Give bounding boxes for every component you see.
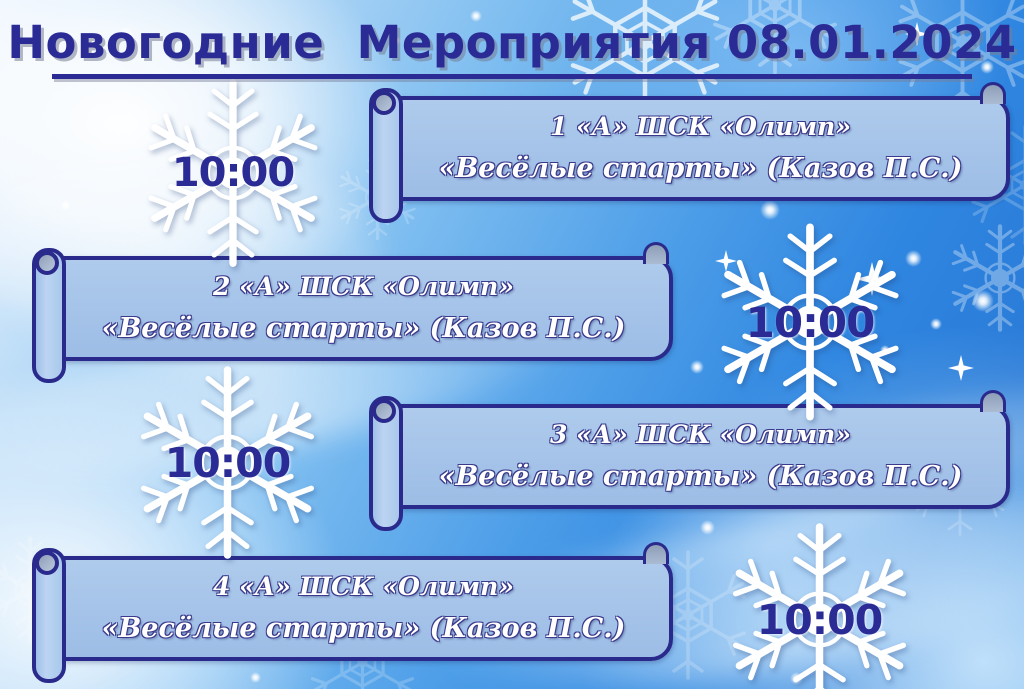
scroll-curl-right-icon: [980, 390, 1006, 412]
scroll-curl-right-icon: [980, 82, 1006, 104]
event-class-label: 4 «А» ШСК «Олимп»: [213, 573, 514, 601]
scroll-curl-icon: [372, 91, 396, 115]
scroll-curl-right-icon: [643, 542, 669, 564]
event-time-label: 10:00: [757, 596, 883, 644]
event-activity-label: «Весёлые старты» (Казов П.С.): [102, 314, 626, 344]
event-time-3: 10:00: [120, 355, 335, 570]
event-time-label: 10:00: [746, 298, 875, 347]
scroll-curl-icon: [35, 251, 59, 275]
event-activity-label: «Весёлые старты» (Казов П.С.): [439, 462, 963, 492]
event-time-2: 10:00: [700, 212, 920, 432]
event-class-label: 1 «А» ШСК «Олимп»: [550, 113, 851, 141]
event-time-label: 10:00: [165, 439, 291, 487]
new-year-events-poster: Новогодние Мероприятия 08.01.2024 10:00 …: [0, 0, 1024, 689]
scroll-curl-icon: [35, 551, 59, 575]
sparkle-icon: [948, 355, 974, 381]
sparkle-icon: [930, 318, 942, 330]
title-underline: [52, 74, 972, 79]
poster-title-text: Новогодние Мероприятия 08.01.2024: [7, 16, 1016, 73]
sparkle-icon: [60, 200, 71, 211]
sparkle-icon: [972, 290, 994, 312]
event-time-1: 10:00: [128, 68, 338, 278]
event-scroll-1[interactable]: 1 «А» ШСК «Олимп» «Весёлые старты» (Казо…: [365, 88, 1010, 223]
poster-title: Новогодние Мероприятия 08.01.2024: [0, 16, 1024, 73]
event-time-4: 10:00: [712, 512, 927, 689]
scroll-body: 1 «А» ШСК «Олимп» «Весёлые старты» (Казо…: [391, 96, 1010, 201]
scroll-curl-icon: [372, 399, 396, 423]
background-snowflake-icon: [940, 218, 1024, 338]
scroll-body: 4 «А» ШСК «Олимп» «Весёлые старты» (Казо…: [54, 556, 673, 661]
event-activity-label: «Весёлые старты» (Казов П.С.): [439, 154, 963, 184]
event-activity-label: «Весёлые старты» (Казов П.С.): [102, 614, 626, 644]
event-time-label: 10:00: [172, 150, 294, 196]
scroll-curl-right-icon: [643, 242, 669, 264]
